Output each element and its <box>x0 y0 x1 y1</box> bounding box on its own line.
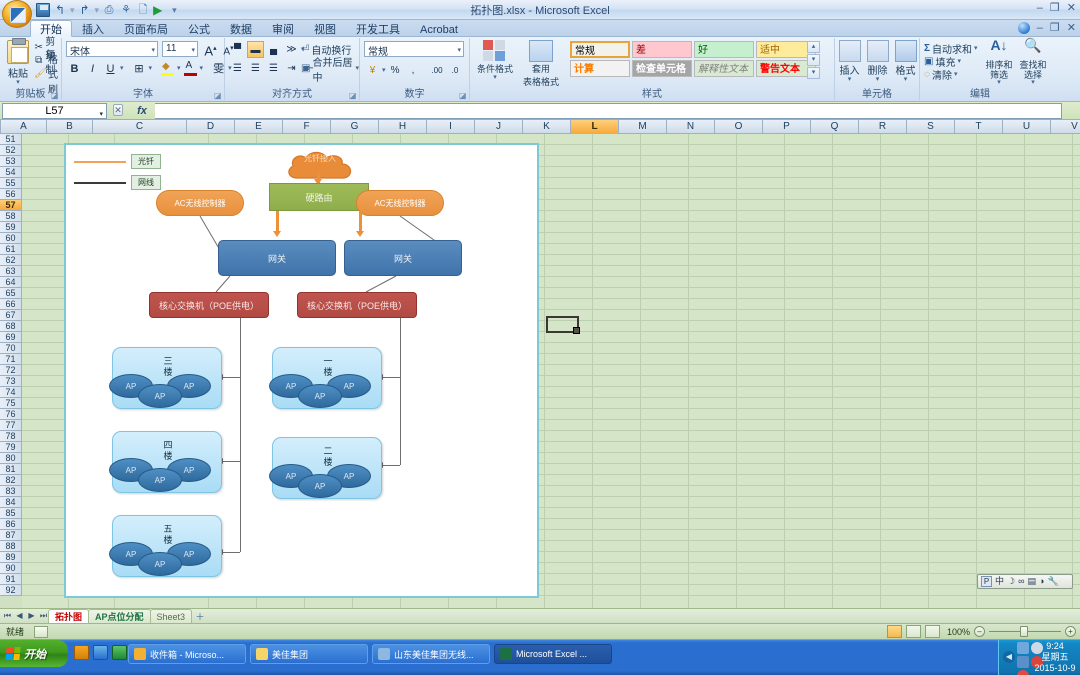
insert-cells-caret-icon[interactable]: ▾ <box>836 77 863 83</box>
media-icon[interactable] <box>93 645 108 660</box>
row-header-71[interactable]: 71 <box>0 354 22 365</box>
align-bottom-button[interactable]: ▄ <box>265 41 282 58</box>
row-header-89[interactable]: 89 <box>0 552 22 563</box>
window-title: 拓扑图.xlsx - Microsoft Excel <box>0 2 1080 18</box>
office-button[interactable] <box>2 0 32 28</box>
formula-bar: L57 ▾ ✕ fx <box>0 102 1080 120</box>
row-header-73[interactable]: 73 <box>0 376 22 387</box>
font-dialog-launcher-icon[interactable]: ◪ <box>214 91 222 99</box>
sort-filter-button[interactable]: A↓ 排序和 筛选 ▾ <box>982 40 1016 86</box>
next-sheet-button[interactable]: ▶ <box>26 611 37 621</box>
clipboard-commands: ✂ 剪切 ⧉ 复制 🖌 格式刷 <box>34 41 61 80</box>
column-header-r[interactable]: R <box>859 120 907 134</box>
row-header-91[interactable]: 91 <box>0 574 22 585</box>
font-size-combo[interactable]: 11 ▾ <box>162 41 198 57</box>
workbook-controls: – ❐ ✕ <box>1018 21 1076 34</box>
quick-launch-bar <box>74 645 127 660</box>
gallery-scroll-up-icon[interactable]: ▴ <box>807 41 820 53</box>
delete-cells-caret-icon[interactable]: ▾ <box>864 77 891 83</box>
new-sheet-button[interactable]: ＋ <box>192 610 208 623</box>
close-button[interactable]: ✕ <box>1067 1 1076 15</box>
row-header-57[interactable]: 57 <box>0 200 22 211</box>
font-color-swatch <box>184 73 197 76</box>
group-cells: 插入 ▾ 删除 ▾ 格式 ▾ 单元格 <box>835 38 920 100</box>
zoom-slider[interactable] <box>989 625 1061 638</box>
grid-vline <box>688 134 689 608</box>
legend-cable-line <box>74 182 126 184</box>
align-right-button[interactable]: ☰ <box>265 60 282 77</box>
gateway-right[interactable]: 网关 <box>344 240 462 276</box>
trunk-left-branch-3f <box>222 377 240 378</box>
conditional-formatting-caret-icon[interactable]: ▾ <box>474 75 516 81</box>
row-header-68[interactable]: 68 <box>0 321 22 332</box>
trunk-left-branch-5f <box>222 552 240 553</box>
column-header-g[interactable]: G <box>331 120 379 134</box>
delete-cells-button[interactable]: 删除 ▾ <box>864 40 891 83</box>
row-header-78[interactable]: 78 <box>0 431 22 442</box>
grow-font-button[interactable]: A▴ <box>202 41 219 57</box>
column-header-p[interactable]: P <box>763 120 811 134</box>
row-header-82[interactable]: 82 <box>0 475 22 486</box>
cell-styles-gallery: 常规 差 好 适中 计算 检查单元格 解释性文本 警告文本 <box>570 41 818 79</box>
row-header-55[interactable]: 55 <box>0 178 22 189</box>
column-header-l[interactable]: L <box>571 120 619 134</box>
task-excel[interactable]: Microsoft Excel ... <box>494 644 612 664</box>
column-header-d[interactable]: D <box>187 120 235 134</box>
ribbon-tabs: 开始 插入 页面布局 公式 数据 审阅 视图 开发工具 Acrobat <box>30 20 468 37</box>
row-header-74[interactable]: 74 <box>0 387 22 398</box>
style-good[interactable]: 好 <box>694 41 754 58</box>
floor-box-5f[interactable]: 五 楼 AP AP AP <box>112 515 222 577</box>
bold-button[interactable]: B <box>66 60 83 77</box>
floor-box-3f[interactable]: 三 楼 AP AP AP <box>112 347 222 409</box>
insert-cells-icon <box>839 40 861 62</box>
name-box[interactable]: L57 ▾ <box>2 103 107 119</box>
help-icon[interactable] <box>1018 22 1030 34</box>
selected-shape-object[interactable] <box>546 316 579 333</box>
tab-page-layout[interactable]: 页面布局 <box>114 20 178 37</box>
gallery-expand-icon[interactable]: ▾ <box>807 67 820 79</box>
excel-icon <box>500 648 512 660</box>
number-format-value: 常规 <box>368 47 388 58</box>
zoom-out-button[interactable]: – <box>974 626 985 637</box>
merge-center-button[interactable]: ▣ 合并后居中 ▾ <box>301 61 359 76</box>
view-page-break-button[interactable] <box>925 625 940 638</box>
row-header-54[interactable]: 54 <box>0 167 22 178</box>
wrap-text-icon: ⏎ <box>301 44 309 55</box>
number-format-caret-icon[interactable]: ▾ <box>457 46 461 54</box>
insert-cells-button[interactable]: 插入 ▾ <box>836 40 863 83</box>
ribbon-tab-strip: 开始 插入 页面布局 公式 数据 审阅 视图 开发工具 Acrobat – ❐ … <box>0 20 1080 37</box>
ap-4f-center[interactable]: AP <box>138 468 182 492</box>
minimize-button[interactable]: – <box>1037 1 1043 15</box>
currency-caret-icon[interactable]: ▾ <box>382 68 386 74</box>
task-outlook-label: 收件箱 - Microso... <box>150 648 224 661</box>
tray-expand-icon[interactable]: ◀ <box>1003 651 1015 663</box>
autosum-caret-icon[interactable]: ▾ <box>974 46 978 52</box>
tab-view[interactable]: 视图 <box>304 20 346 37</box>
prev-sheet-button[interactable]: ◀ <box>14 611 25 621</box>
ime-punctuation-icon[interactable]: ☽ <box>1007 575 1015 588</box>
window-controls-top: – ❐ ✕ <box>1037 1 1076 15</box>
document-icon <box>378 648 390 660</box>
column-header-o[interactable]: O <box>715 120 763 134</box>
clock-day: 星期五 <box>1033 652 1077 663</box>
network-topology-diagram[interactable]: 光钎 网线 光钎接入 硬路由 AC无线控制器 AC无线控制器 <box>64 143 539 598</box>
currency-button[interactable]: ¥ <box>364 62 381 79</box>
workbook-close-button[interactable]: ✕ <box>1067 21 1076 34</box>
grid-vline <box>1072 134 1073 608</box>
format-cells-button[interactable]: 格式 ▾ <box>892 40 919 83</box>
system-clock[interactable]: 9:24 星期五 2015-10-9 <box>1033 641 1077 674</box>
row-header-81[interactable]: 81 <box>0 464 22 475</box>
column-header-i[interactable]: I <box>427 120 475 134</box>
row-headers: 5152535455565758596061626364656667686970… <box>0 134 22 596</box>
floor-box-2f[interactable]: 二 楼 AP AP AP <box>272 437 382 499</box>
column-header-f[interactable]: F <box>283 120 331 134</box>
zoom-level-label[interactable]: 100% <box>944 627 970 637</box>
increase-decimal-button[interactable]: .00 <box>429 62 446 79</box>
group-styles: 条件格式 ▾ 套用 表格格式 常规 差 好 适中 计算 检查单元格 解释性文本 <box>470 38 835 100</box>
row-header-69[interactable]: 69 <box>0 332 22 343</box>
find-select-button[interactable]: 🔍 查找和 选择 ▾ <box>1016 40 1050 86</box>
view-page-layout-button[interactable] <box>906 625 921 638</box>
column-header-a[interactable]: A <box>1 120 47 134</box>
binoculars-icon: 🔍 <box>1016 40 1050 60</box>
row-header-66[interactable]: 66 <box>0 299 22 310</box>
percent-button[interactable]: % <box>387 62 404 79</box>
row-header-59[interactable]: 59 <box>0 222 22 233</box>
cells-group-label: 单元格 <box>835 85 919 100</box>
style-calculation[interactable]: 计算 <box>570 60 630 77</box>
merge-caret-icon[interactable]: ▾ <box>355 66 359 72</box>
ap-5f-center[interactable]: AP <box>138 552 182 576</box>
fill-color-caret-icon[interactable]: ▾ <box>177 66 181 72</box>
cell-styles-row-2: 计算 检查单元格 解释性文本 警告文本 <box>570 60 818 77</box>
core-switch-right[interactable]: 核心交换机（POE供电） <box>297 292 417 318</box>
insert-function-icon[interactable]: fx <box>129 105 155 117</box>
ime-keyboard-icon[interactable]: ▤ <box>1028 575 1037 588</box>
trunk-right-branch-1f <box>382 377 400 378</box>
conditional-formatting-icon <box>483 40 507 62</box>
column-header-j[interactable]: J <box>475 120 523 134</box>
align-middle-button[interactable]: ▬ <box>247 41 264 58</box>
cancel-formula-icon[interactable]: ✕ <box>113 104 123 116</box>
row-header-62[interactable]: 62 <box>0 255 22 266</box>
column-header-s[interactable]: S <box>907 120 955 134</box>
format-cells-caret-icon[interactable]: ▾ <box>892 77 919 83</box>
font-color-button[interactable]: A <box>182 60 199 77</box>
scissors-icon: ✂ <box>34 42 43 54</box>
grid-vline <box>736 134 737 608</box>
title-bar: ↰ ▾ ↱ ▾ ⎙ ⚘ 🗋 ▶ ▾ 拓扑图.xlsx - Microsoft E… <box>0 0 1080 20</box>
font-size-value: 11 <box>166 43 176 54</box>
font-style-buttons: B I U ▾ ⊞ ▾ ◆ ▾ A ▾ 雯 ▾ <box>66 60 232 77</box>
column-header-c[interactable]: C <box>93 120 187 134</box>
cell-styles-row-1: 常规 差 好 适中 <box>570 41 818 58</box>
ac-controller-left[interactable]: AC无线控制器 <box>156 190 244 216</box>
row-header-77[interactable]: 77 <box>0 420 22 431</box>
sigma-icon: Σ <box>924 43 930 54</box>
row-header-64[interactable]: 64 <box>0 277 22 288</box>
group-editing: Σ 自动求和 ▾ ▣ 填充 ▾ ◌ 清除 ▾ A↓ <box>920 38 1040 100</box>
fill-color-button[interactable]: ◆ <box>159 60 176 77</box>
row-header-85[interactable]: 85 <box>0 508 22 519</box>
system-tray: ◀ 9:24 星期五 2015-10-9 <box>998 640 1080 675</box>
ap-3f-center[interactable]: AP <box>138 384 182 408</box>
tab-insert[interactable]: 插入 <box>72 20 114 37</box>
group-clipboard: 粘贴 ▾ ✂ 剪切 ⧉ 复制 🖌 格式刷 剪贴板 ◪ <box>0 38 62 100</box>
column-header-h[interactable]: H <box>379 120 427 134</box>
trunk-left-branch-4f <box>222 461 240 462</box>
formula-input[interactable] <box>155 103 1062 119</box>
fill-color-swatch <box>161 73 174 76</box>
outlook-icon <box>134 648 146 660</box>
font-group-label: 字体 <box>62 85 224 100</box>
align-center-button[interactable]: ☰ <box>247 60 264 77</box>
grid-vline <box>832 134 833 608</box>
cloud-label: 光钎接入 <box>284 154 356 164</box>
grid-vline <box>976 134 977 608</box>
start-label: 开始 <box>24 646 46 662</box>
column-header-e[interactable]: E <box>235 120 283 134</box>
style-check-cell[interactable]: 检查单元格 <box>632 60 692 77</box>
clock-date: 2015-10-9 <box>1033 663 1077 674</box>
borders-caret-icon[interactable]: ▾ <box>149 66 153 72</box>
column-header-u[interactable]: U <box>1003 120 1051 134</box>
grid-vline <box>592 134 593 608</box>
task-document-label: 山东美佳集团无线... <box>394 648 474 661</box>
align-top-button[interactable]: ▀ <box>229 41 246 58</box>
taskbar-tasks: 收件箱 - Microso... 美佳集团 山东美佳集团无线... Micros… <box>128 644 612 664</box>
trunk-left-vertical <box>240 318 241 552</box>
clock-time: 9:24 <box>1033 641 1077 652</box>
column-header-cells: ABCDEFGHIJKLMNOPQRSTUV <box>1 120 1080 133</box>
workbook-minimize-button[interactable]: – <box>1037 22 1043 34</box>
row-header-80[interactable]: 80 <box>0 453 22 464</box>
tray-network-icon[interactable] <box>1017 642 1029 654</box>
decrease-decimal-button[interactable]: .0 <box>447 62 464 79</box>
row-header-86[interactable]: 86 <box>0 519 22 530</box>
legend-cable-label: 网线 <box>131 175 161 190</box>
ime-language-bar[interactable]: P 中 ☽ ∞ ▤ ◑ 🔧 <box>977 574 1073 589</box>
merge-center-label: 合并后居中 <box>312 54 353 84</box>
row-header-56[interactable]: 56 <box>0 189 22 200</box>
sheet-tab-bar: ⏮ ◀ ▶ ⏭ 拓扑图 AP点位分配 Sheet3 ＋ <box>0 608 1080 623</box>
sort-filter-icon: A↓ <box>982 40 1016 60</box>
merge-cells-icon: ▣ <box>301 63 310 74</box>
format-as-table-button[interactable]: 套用 表格格式 <box>520 40 562 88</box>
floor-box-4f[interactable]: 四 楼 AP AP AP <box>112 431 222 493</box>
fill-caret-icon[interactable]: ▾ <box>957 59 961 65</box>
row-header-72[interactable]: 72 <box>0 365 22 376</box>
column-header-v[interactable]: V <box>1051 120 1080 134</box>
grid-vline <box>1024 134 1025 608</box>
column-headers: ABCDEFGHIJKLMNOPQRSTUV <box>0 120 1080 134</box>
grid-vline <box>928 134 929 608</box>
ime-fullwidth-icon[interactable]: ∞ <box>1018 575 1024 588</box>
format-cells-label: 格式 <box>892 62 919 77</box>
format-cells-icon <box>895 40 917 62</box>
legend-fiber-line <box>74 161 126 163</box>
row-header-76[interactable]: 76 <box>0 409 22 420</box>
clipboard-dialog-launcher-icon[interactable]: ◪ <box>51 91 59 99</box>
conditional-formatting-button[interactable]: 条件格式 ▾ <box>474 40 516 81</box>
row-header-60[interactable]: 60 <box>0 233 22 244</box>
row-header-92[interactable]: 92 <box>0 585 22 596</box>
number-dialog-launcher-icon[interactable]: ◪ <box>459 91 467 99</box>
ap-1f-center[interactable]: AP <box>298 384 342 408</box>
italic-button[interactable]: I <box>84 60 101 77</box>
workbook-restore-button[interactable]: ❐ <box>1050 21 1060 34</box>
font-name-combo[interactable]: 宋体 ▾ <box>66 41 158 57</box>
comma-style-button[interactable]: , <box>405 62 422 79</box>
row-header-67[interactable]: 67 <box>0 310 22 321</box>
ime-logo-icon[interactable]: P <box>981 576 992 587</box>
ap-2f-center[interactable]: AP <box>298 474 342 498</box>
row-header-61[interactable]: 61 <box>0 244 22 255</box>
tab-review[interactable]: 审阅 <box>262 20 304 37</box>
paste-label: 粘贴 <box>3 65 33 80</box>
orientation-button[interactable]: ≫ <box>283 41 300 58</box>
font-name-caret-icon[interactable]: ▾ <box>151 46 155 54</box>
sheet-tab-topology[interactable]: 拓扑图 <box>48 609 89 623</box>
trunk-right-branch-2f <box>382 465 400 466</box>
row-header-63[interactable]: 63 <box>0 266 22 277</box>
font-color-caret-icon[interactable]: ▾ <box>200 66 204 72</box>
ribbon: 粘贴 ▾ ✂ 剪切 ⧉ 复制 🖌 格式刷 剪贴板 ◪ <box>0 37 1080 102</box>
column-header-k[interactable]: K <box>523 120 571 134</box>
paste-button[interactable]: 粘贴 ▾ <box>3 40 33 86</box>
formula-bar-buttons: ✕ <box>107 105 129 116</box>
row-header-52[interactable]: 52 <box>0 145 22 156</box>
group-number: 常规 ▾ ¥ ▾ % , .00 .0 数字 ◪ <box>360 38 470 100</box>
task-outlook[interactable]: 收件箱 - Microso... <box>128 644 246 664</box>
sheet-nav-buttons: ⏮ ◀ ▶ ⏭ <box>2 611 49 621</box>
eraser-icon: ◌ <box>924 69 930 80</box>
table-format-icon <box>529 40 553 62</box>
underline-caret-icon[interactable]: ▾ <box>120 66 124 72</box>
status-right-controls: 100% – + <box>887 625 1076 638</box>
row-header-88[interactable]: 88 <box>0 541 22 552</box>
ac-controller-right[interactable]: AC无线控制器 <box>356 190 444 216</box>
view-normal-button[interactable] <box>887 625 902 638</box>
tab-acrobat[interactable]: Acrobat <box>410 20 468 37</box>
select-all-corner[interactable] <box>0 120 1 134</box>
floor-box-1f[interactable]: 一 楼 AP AP AP <box>272 347 382 409</box>
tray-monitor-icon[interactable] <box>1017 656 1029 668</box>
column-header-m[interactable]: M <box>619 120 667 134</box>
row-header-83[interactable]: 83 <box>0 486 22 497</box>
clear-label: 清除 <box>932 67 952 82</box>
status-macro-icon[interactable] <box>34 626 48 638</box>
row-header-84[interactable]: 84 <box>0 497 22 508</box>
alignment-dialog-launcher-icon[interactable]: ◪ <box>349 91 357 99</box>
number-buttons: ¥ ▾ % , .00 .0 <box>364 62 464 79</box>
first-sheet-button[interactable]: ⏮ <box>2 611 13 621</box>
status-bar: 就绪 100% – + <box>0 623 1080 639</box>
grid-vline <box>880 134 881 608</box>
row-header-79[interactable]: 79 <box>0 442 22 453</box>
group-alignment: ▀ ▬ ▄ ≫ ▾ ☰ ☰ ☰ ⇥ ⇤ ⏎ 自动换行 ▣ 合并后居中 ▾ <box>225 38 360 100</box>
gallery-scroll-down-icon[interactable]: ▾ <box>807 54 820 66</box>
delete-cells-label: 删除 <box>864 62 891 77</box>
task-folder[interactable]: 美佳集团 <box>250 644 368 664</box>
zoom-in-button[interactable]: + <box>1065 626 1076 637</box>
row-header-51[interactable]: 51 <box>0 134 22 145</box>
sheet-tab-sheet3[interactable]: Sheet3 <box>150 609 193 623</box>
restore-button[interactable]: ❐ <box>1050 1 1060 15</box>
task-excel-label: Microsoft Excel ... <box>516 649 587 659</box>
vertical-align-buttons: ▀ ▬ ▄ ≫ ▾ <box>229 41 305 58</box>
core-switch-left[interactable]: 核心交换机（POE供电） <box>149 292 269 318</box>
row-header-90[interactable]: 90 <box>0 563 22 574</box>
grid-vline <box>640 134 641 608</box>
column-header-q[interactable]: Q <box>811 120 859 134</box>
styles-gallery-scrollbar[interactable]: ▴ ▾ ▾ <box>807 41 820 79</box>
ime-chinese-icon[interactable]: 中 <box>995 575 1004 588</box>
excel-window: ↰ ▾ ↱ ▾ ⎙ ⚘ 🗋 ▶ ▾ 拓扑图.xlsx - Microsoft E… <box>0 0 1080 675</box>
column-header-t[interactable]: T <box>955 120 1003 134</box>
column-header-b[interactable]: B <box>47 120 93 134</box>
row-header-70[interactable]: 70 <box>0 343 22 354</box>
row-header-58[interactable]: 58 <box>0 211 22 222</box>
row-header-65[interactable]: 65 <box>0 288 22 299</box>
decrease-indent-button[interactable]: ⇥ <box>283 60 300 77</box>
task-folder-label: 美佳集团 <box>272 648 308 661</box>
editing-small-commands: Σ 自动求和 ▾ ▣ 填充 ▾ ◌ 清除 ▾ <box>924 42 978 81</box>
alignment-group-label: 对齐方式 <box>225 85 359 100</box>
paste-icon <box>7 40 29 64</box>
row-header-53[interactable]: 53 <box>0 156 22 167</box>
task-document[interactable]: 山东美佳集团无线... <box>372 644 490 664</box>
borders-button[interactable]: ⊞ <box>131 60 148 77</box>
underline-button[interactable]: U <box>102 60 119 77</box>
editing-group-label: 编辑 <box>920 85 1040 100</box>
insert-cells-label: 插入 <box>836 62 863 77</box>
number-format-combo[interactable]: 常规 ▾ <box>364 41 464 57</box>
delete-cells-icon <box>867 40 889 62</box>
sort-filter-label: 排序和 筛选 <box>982 60 1016 80</box>
tray-antivirus-icon[interactable] <box>1017 670 1029 675</box>
style-bad[interactable]: 差 <box>632 41 692 58</box>
format-painter-button[interactable]: 🖌 格式刷 <box>34 67 61 80</box>
ime-settings-icon[interactable]: 🔧 <box>1047 575 1058 588</box>
ime-softkeyboard-icon[interactable]: ◑ <box>1039 575 1044 588</box>
shield-icon[interactable] <box>112 645 127 660</box>
style-explanatory-text[interactable]: 解释性文本 <box>694 60 754 77</box>
start-button[interactable]: 开始 <box>0 640 68 667</box>
style-normal[interactable]: 常规 <box>570 41 630 58</box>
tab-formulas[interactable]: 公式 <box>178 20 220 37</box>
row-header-87[interactable]: 87 <box>0 530 22 541</box>
gateway-left[interactable]: 网关 <box>218 240 336 276</box>
tab-developer[interactable]: 开发工具 <box>346 20 410 37</box>
ie-icon[interactable] <box>74 645 89 660</box>
hardware-router[interactable]: 硬路由 <box>269 183 369 211</box>
column-header-n[interactable]: N <box>667 120 715 134</box>
clear-caret-icon[interactable]: ▾ <box>954 72 958 78</box>
grid-vline <box>784 134 785 608</box>
name-box-value: L57 <box>45 105 63 117</box>
row-header-75[interactable]: 75 <box>0 398 22 409</box>
clear-button[interactable]: ◌ 清除 ▾ <box>924 68 978 81</box>
tab-data[interactable]: 数据 <box>220 20 262 37</box>
sheet-tab-ap-allocation[interactable]: AP点位分配 <box>88 609 151 623</box>
align-left-button[interactable]: ☰ <box>229 60 246 77</box>
font-size-caret-icon[interactable]: ▾ <box>191 46 195 54</box>
find-select-label: 查找和 选择 <box>1016 60 1050 80</box>
